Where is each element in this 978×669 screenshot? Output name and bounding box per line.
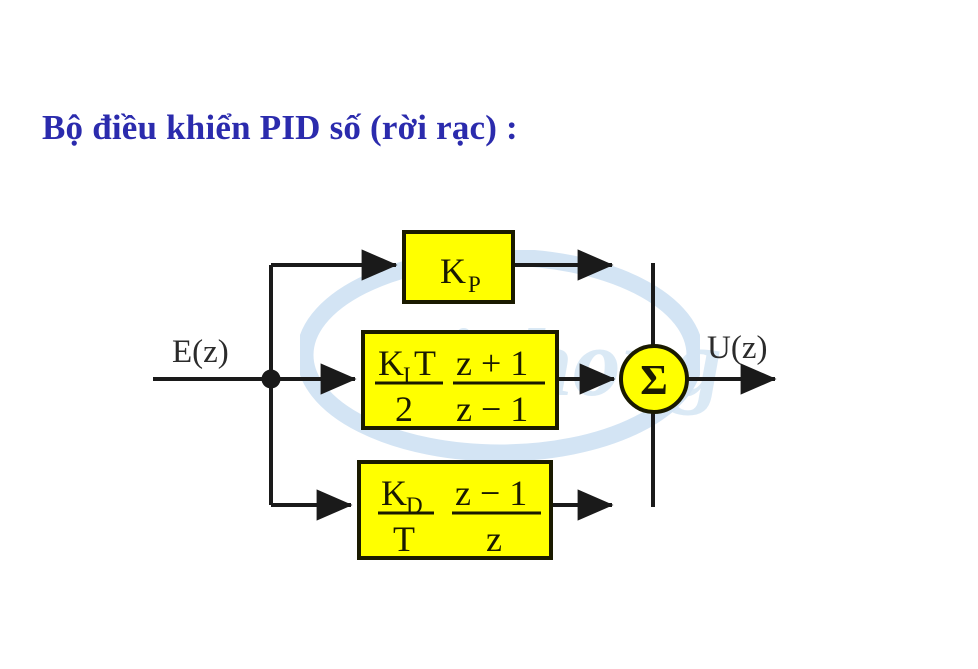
integral-numerator-base: K [378,343,404,383]
summing-junction[interactable]: Σ [621,346,687,412]
integral-denominator: 2 [395,389,413,429]
integral-zfrac-denominator: z − 1 [456,389,528,429]
derivative-zfrac-denominator: z [486,519,502,559]
derivative-numerator-base: K [381,473,407,513]
slide-canvas: Bộ điều khiển PID số (rời rạc) : taiphon… [0,0,978,669]
proportional-gain-subscript: P [468,272,481,297]
output-signal-label: U(z) [707,330,767,366]
proportional-gain-block[interactable]: K P [404,232,513,302]
sigma-symbol: Σ [640,358,667,404]
integral-numerator-tail: T [414,343,436,383]
derivative-denominator: T [393,519,415,559]
derivative-term-block[interactable]: K D T z − 1 z [359,462,551,559]
input-signal-label: E(z) [172,334,229,370]
signal-branch-node [262,370,281,389]
integral-zfrac-numerator: z + 1 [456,343,528,383]
integral-term-block[interactable]: K I T 2 z + 1 z − 1 [363,332,557,429]
derivative-zfrac-numerator: z − 1 [455,473,527,513]
proportional-gain-base: K [440,251,466,291]
pid-block-diagram: taiphong [0,0,978,669]
